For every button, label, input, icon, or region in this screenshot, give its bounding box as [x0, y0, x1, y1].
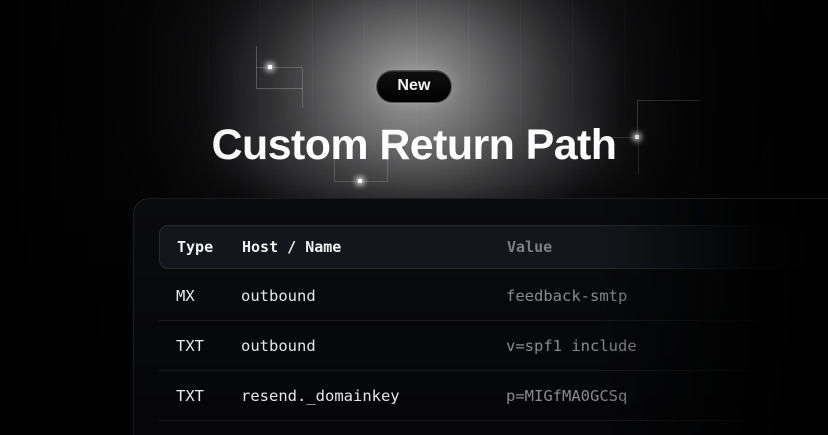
hero-banner: New Custom Return Path Type Host / Name … — [0, 0, 828, 435]
cell-value: v=spf1 include — [506, 337, 828, 355]
cell-host: outbound — [241, 287, 506, 305]
page-title: Custom Return Path — [0, 121, 828, 169]
cell-type: TXT — [159, 337, 241, 355]
hero-content: New Custom Return Path — [0, 0, 828, 169]
column-header-host: Host / Name — [242, 238, 507, 256]
cell-value: p=MIGfMA0GCSq — [506, 387, 828, 405]
cell-host: outbound — [241, 337, 506, 355]
table-row[interactable]: TXT outbound v=spf1 include — [159, 321, 828, 371]
cell-type: TXT — [159, 387, 241, 405]
dns-records-card: Type Host / Name Value MX outbound feedb… — [133, 198, 828, 435]
column-header-type: Type — [160, 238, 242, 256]
dns-records-table: Type Host / Name Value MX outbound feedb… — [159, 225, 828, 421]
table-row[interactable]: MX outbound feedback-smtp — [159, 271, 828, 321]
cell-type: MX — [159, 287, 241, 305]
table-header-row: Type Host / Name Value — [159, 225, 828, 269]
cell-value: feedback-smtp — [506, 287, 828, 305]
table-row[interactable]: TXT resend._domainkey p=MIGfMA0GCSq — [159, 371, 828, 421]
cell-host: resend._domainkey — [241, 387, 506, 405]
new-badge: New — [376, 70, 451, 103]
column-header-value: Value — [507, 238, 828, 256]
